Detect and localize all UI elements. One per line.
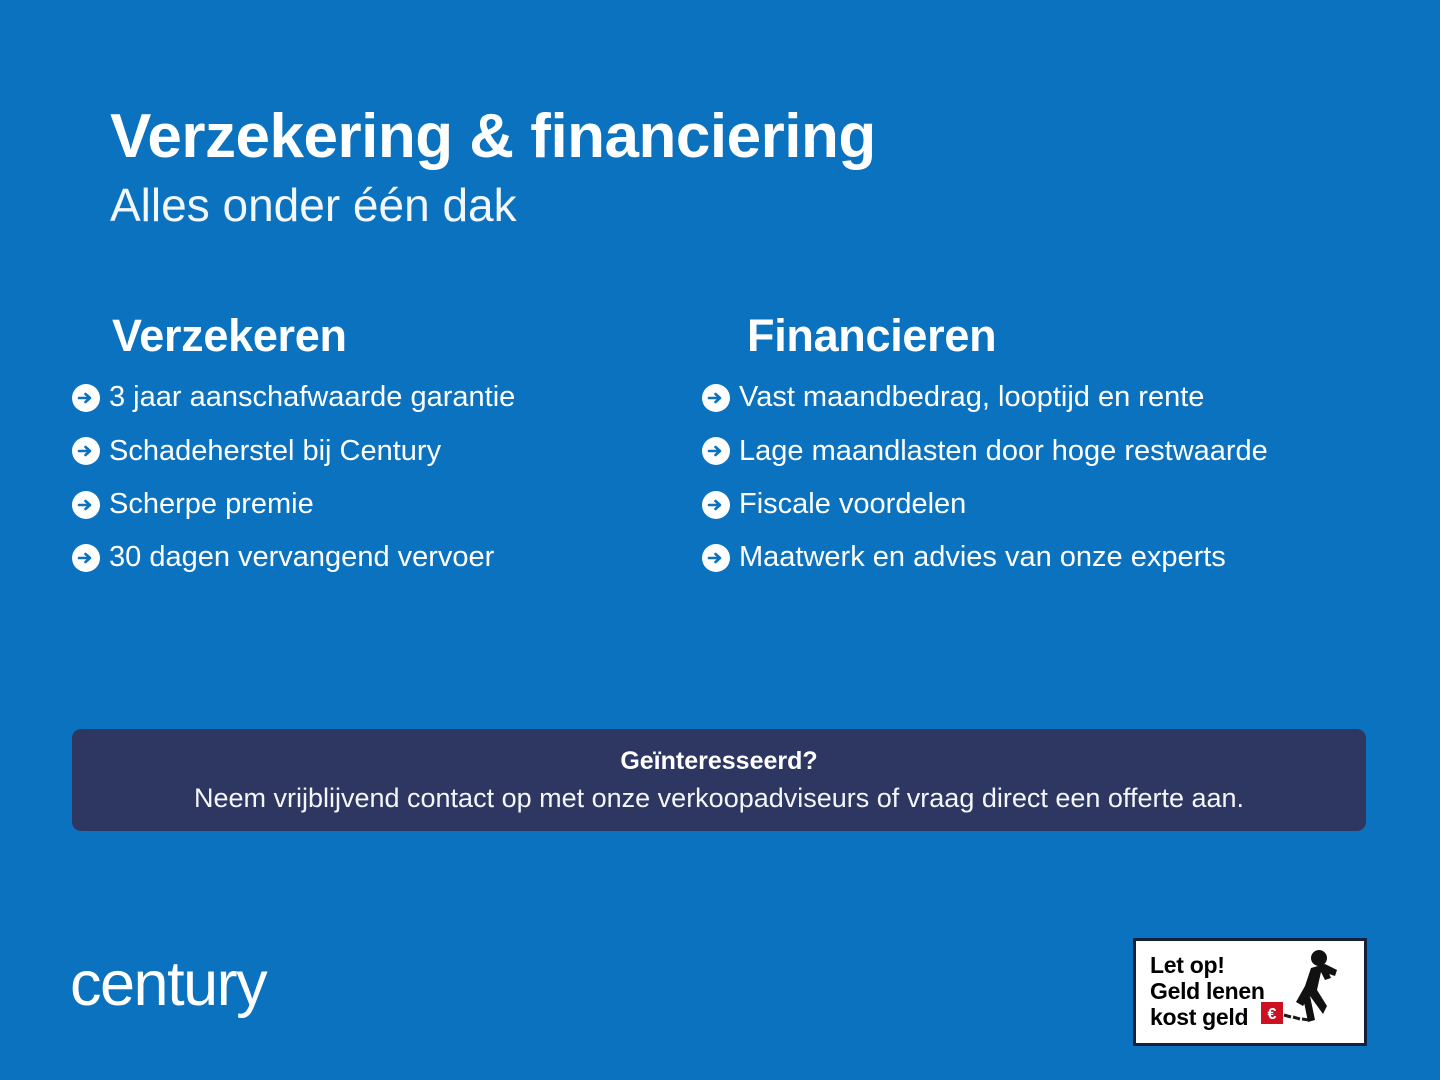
svg-text:€: € [1267,1006,1276,1023]
warning-line-3: kost geld [1150,1005,1265,1031]
list-item-label: Scherpe premie [109,488,314,521]
list-item: Fiscale voordelen [702,488,1392,521]
cta-panel: Geïnteresseerd? Neem vrijblijvend contac… [72,729,1366,831]
arrow-right-circle-icon [702,437,730,465]
list-item: Lage maandlasten door hoge restwaarde [702,435,1392,468]
arrow-right-circle-icon [72,544,100,572]
arrow-right-circle-icon [72,491,100,519]
list-item: 30 dagen vervangend vervoer [72,541,702,574]
column-financieren: Financieren Vast maandbedrag, looptijd e… [702,312,1392,595]
cta-heading: Geïnteresseerd? [620,746,817,776]
list-item-label: Vast maandbedrag, looptijd en rente [739,381,1204,414]
column-verzekeren: Verzekeren 3 jaar aanschafwaarde garanti… [72,312,702,595]
list-item-label: 30 dagen vervangend vervoer [109,541,494,574]
century-logo: century [70,953,266,1016]
bullet-list-verzekeren: 3 jaar aanschafwaarde garantie Schadeher… [112,381,702,574]
list-item-label: Fiscale voordelen [739,488,966,521]
page-subtitle: Alles onder één dak [110,179,1310,232]
arrow-right-circle-icon [702,544,730,572]
list-item: 3 jaar aanschafwaarde garantie [72,381,702,414]
page-title: Verzekering & financiering [110,104,1310,169]
list-item-label: Schadeherstel bij Century [109,435,441,468]
column-heading-financieren: Financieren [747,312,1392,359]
list-item: Scherpe premie [72,488,702,521]
euro-ball-and-chain-walker-icon: € [1261,946,1339,1038]
list-item-label: 3 jaar aanschafwaarde garantie [109,381,515,414]
warning-line-2: Geld lenen [1150,979,1265,1005]
cta-body: Neem vrijblijvend contact op met onze ve… [194,782,1244,814]
warning-line-1: Let op! [1150,953,1265,979]
warning-badge-text: Let op! Geld lenen kost geld [1150,953,1265,1030]
column-heading-verzekeren: Verzekeren [112,312,702,359]
feature-columns: Verzekeren 3 jaar aanschafwaarde garanti… [72,312,1392,595]
arrow-right-circle-icon [702,384,730,412]
arrow-right-circle-icon [72,384,100,412]
list-item-label: Lage maandlasten door hoge restwaarde [739,435,1268,468]
arrow-right-circle-icon [702,491,730,519]
slide-root: Verzekering & financiering Alles onder é… [0,0,1440,1080]
list-item: Vast maandbedrag, looptijd en rente [702,381,1392,414]
list-item-label: Maatwerk en advies van onze experts [739,541,1226,574]
list-item: Maatwerk en advies van onze experts [702,541,1392,574]
bullet-list-financieren: Vast maandbedrag, looptijd en rente Lage… [747,381,1392,574]
header: Verzekering & financiering Alles onder é… [110,104,1310,232]
list-item: Schadeherstel bij Century [72,435,702,468]
arrow-right-circle-icon [72,437,100,465]
credit-warning-badge: Let op! Geld lenen kost geld € [1133,938,1367,1046]
